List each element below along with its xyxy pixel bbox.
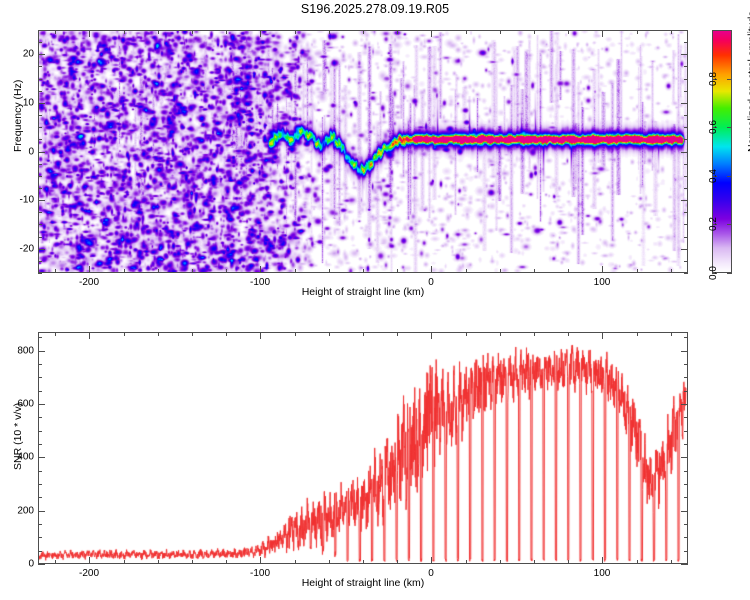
y-minor-tick <box>38 188 42 189</box>
y-minor-tick-right <box>684 79 688 80</box>
x-tick-label: -100 <box>250 277 270 288</box>
x-minor-tick-top <box>295 332 296 336</box>
snr-x-axis-title: Height of straight line (km) <box>302 577 425 589</box>
x-major-tick <box>89 266 90 273</box>
x-tick-label: -200 <box>79 568 99 579</box>
x-minor-tick <box>363 269 364 273</box>
x-minor-tick <box>329 560 330 564</box>
y-major-tick <box>38 351 45 352</box>
x-minor-tick-top <box>226 30 227 34</box>
x-tick-label: -100 <box>250 568 270 579</box>
x-minor-tick <box>671 269 672 273</box>
x-minor-tick <box>637 560 638 564</box>
y-major-tick-right <box>681 54 688 55</box>
y-minor-tick <box>38 224 42 225</box>
x-minor-tick-top <box>192 30 193 34</box>
y-minor-tick-right <box>684 273 688 274</box>
x-minor-tick-top <box>158 30 159 34</box>
y-major-tick-right <box>681 404 688 405</box>
y-minor-tick <box>38 261 42 262</box>
x-major-tick-top <box>89 30 90 37</box>
x-major-tick-top <box>431 332 432 339</box>
x-minor-tick <box>568 560 569 564</box>
y-minor-tick <box>38 377 42 378</box>
x-minor-tick <box>226 560 227 564</box>
x-minor-tick <box>363 560 364 564</box>
x-major-tick <box>89 557 90 564</box>
colorbar-tick-label: 0.8 <box>708 72 719 86</box>
x-minor-tick-top <box>124 30 125 34</box>
y-minor-tick-right <box>684 417 688 418</box>
x-minor-tick <box>192 269 193 273</box>
x-minor-tick <box>192 560 193 564</box>
y-major-tick-right <box>681 457 688 458</box>
y-major-tick <box>38 152 45 153</box>
x-minor-tick-top <box>500 30 501 34</box>
x-minor-tick <box>466 560 467 564</box>
y-major-tick <box>38 457 45 458</box>
x-minor-tick-top <box>534 30 535 34</box>
x-major-tick <box>260 557 261 564</box>
y-minor-tick-right <box>684 537 688 538</box>
y-minor-tick <box>38 551 42 552</box>
x-minor-tick <box>55 269 56 273</box>
x-tick-label: 0 <box>428 277 434 288</box>
y-minor-tick-right <box>684 212 688 213</box>
y-minor-tick-right <box>684 551 688 552</box>
y-minor-tick <box>38 391 42 392</box>
x-minor-tick <box>534 269 535 273</box>
x-minor-tick <box>329 269 330 273</box>
x-tick-label: 0 <box>428 568 434 579</box>
x-minor-tick-top <box>500 332 501 336</box>
snr-y-axis-title: SNR (10 * v/v) <box>12 403 24 470</box>
colorbar-tick-label: 0.2 <box>708 217 719 231</box>
y-minor-tick-right <box>684 431 688 432</box>
y-minor-tick-right <box>684 127 688 128</box>
x-minor-tick <box>671 560 672 564</box>
x-major-tick <box>431 557 432 564</box>
colorbar-tick-label: 0.0 <box>708 266 719 280</box>
x-minor-tick <box>295 560 296 564</box>
x-minor-tick-top <box>295 30 296 34</box>
x-minor-tick-top <box>124 332 125 336</box>
y-major-tick-right <box>681 152 688 153</box>
x-minor-tick-top <box>671 30 672 34</box>
colorbar-gradient <box>713 31 731 272</box>
y-minor-tick <box>38 42 42 43</box>
y-minor-tick <box>38 79 42 80</box>
y-minor-tick-right <box>684 377 688 378</box>
snr-plot-area <box>38 332 688 564</box>
y-minor-tick-right <box>684 497 688 498</box>
x-minor-tick-top <box>363 332 364 336</box>
y-tick-label: -10 <box>6 195 34 206</box>
page-title: S196.2025.278.09.19.R05 <box>0 2 750 16</box>
y-tick-label: 0 <box>6 559 34 570</box>
y-major-tick <box>38 404 45 405</box>
y-minor-tick <box>38 30 42 31</box>
x-tick-label: -200 <box>79 277 99 288</box>
y-minor-tick <box>38 484 42 485</box>
x-minor-tick-top <box>158 332 159 336</box>
y-major-tick <box>38 511 45 512</box>
x-minor-tick-top <box>637 332 638 336</box>
colorbar-tick-label: 0.6 <box>708 120 719 134</box>
x-major-tick-top <box>260 30 261 37</box>
y-minor-tick <box>38 524 42 525</box>
x-minor-tick <box>534 560 535 564</box>
x-major-tick <box>602 557 603 564</box>
x-minor-tick-top <box>568 30 569 34</box>
x-major-tick-top <box>89 332 90 339</box>
y-major-tick-right <box>681 103 688 104</box>
spectrogram-plot-area <box>38 30 688 273</box>
y-minor-tick-right <box>684 237 688 238</box>
y-major-tick-right <box>681 564 688 565</box>
x-minor-tick <box>226 269 227 273</box>
y-minor-tick-right <box>684 524 688 525</box>
y-tick-label: 800 <box>6 346 34 357</box>
y-minor-tick-right <box>684 391 688 392</box>
x-minor-tick <box>397 269 398 273</box>
x-major-tick-top <box>260 332 261 339</box>
y-minor-tick-right <box>684 115 688 116</box>
y-minor-tick <box>38 66 42 67</box>
y-major-tick-right <box>681 249 688 250</box>
colorbar-tick <box>727 127 732 128</box>
y-minor-tick <box>38 139 42 140</box>
x-major-tick <box>431 266 432 273</box>
x-minor-tick <box>500 269 501 273</box>
y-minor-tick-right <box>684 30 688 31</box>
y-minor-tick-right <box>684 337 688 338</box>
y-minor-tick <box>38 237 42 238</box>
x-minor-tick <box>295 269 296 273</box>
y-minor-tick <box>38 364 42 365</box>
y-minor-tick <box>38 115 42 116</box>
colorbar-tick <box>727 79 732 80</box>
y-minor-tick <box>38 212 42 213</box>
spectrogram-x-axis-title: Height of straight line (km) <box>302 286 425 298</box>
y-minor-tick-right <box>684 224 688 225</box>
y-tick-label: 200 <box>6 506 34 517</box>
spectrogram-y-axis-title: Frequency (Hz) <box>12 80 24 152</box>
x-major-tick-top <box>602 332 603 339</box>
x-minor-tick-top <box>466 30 467 34</box>
y-major-tick <box>38 54 45 55</box>
y-minor-tick <box>38 471 42 472</box>
x-minor-tick-top <box>466 332 467 336</box>
y-minor-tick <box>38 497 42 498</box>
snr-line-series <box>39 333 687 563</box>
x-minor-tick-top <box>329 332 330 336</box>
colorbar-tick <box>727 176 732 177</box>
x-major-tick <box>260 266 261 273</box>
y-minor-tick-right <box>684 471 688 472</box>
y-tick-label: -20 <box>6 244 34 255</box>
x-major-tick <box>602 266 603 273</box>
y-minor-tick-right <box>684 176 688 177</box>
y-minor-tick <box>38 127 42 128</box>
y-major-tick <box>38 249 45 250</box>
colorbar-tick-label: 0.4 <box>708 169 719 183</box>
y-minor-tick-right <box>684 164 688 165</box>
x-major-tick-top <box>431 30 432 37</box>
y-minor-tick-right <box>684 188 688 189</box>
x-minor-tick <box>55 560 56 564</box>
x-major-tick-top <box>602 30 603 37</box>
x-tick-label: 100 <box>594 277 611 288</box>
y-minor-tick <box>38 431 42 432</box>
x-minor-tick-top <box>534 332 535 336</box>
y-minor-tick <box>38 273 42 274</box>
y-major-tick-right <box>681 200 688 201</box>
x-minor-tick-top <box>55 332 56 336</box>
x-minor-tick <box>568 269 569 273</box>
y-major-tick <box>38 200 45 201</box>
x-minor-tick <box>124 269 125 273</box>
colorbar-tick <box>727 273 732 274</box>
y-minor-tick-right <box>684 42 688 43</box>
y-minor-tick <box>38 417 42 418</box>
y-minor-tick <box>38 337 42 338</box>
y-major-tick <box>38 103 45 104</box>
x-minor-tick-top <box>671 332 672 336</box>
x-minor-tick <box>500 560 501 564</box>
y-major-tick <box>38 564 45 565</box>
x-minor-tick-top <box>397 30 398 34</box>
x-minor-tick-top <box>192 332 193 336</box>
spectrogram-image <box>39 31 687 272</box>
y-minor-tick-right <box>684 364 688 365</box>
x-minor-tick-top <box>397 332 398 336</box>
y-minor-tick <box>38 91 42 92</box>
x-minor-tick <box>158 269 159 273</box>
y-minor-tick-right <box>684 66 688 67</box>
x-minor-tick-top <box>363 30 364 34</box>
x-minor-tick-top <box>329 30 330 34</box>
x-minor-tick-top <box>55 30 56 34</box>
y-minor-tick <box>38 444 42 445</box>
y-major-tick-right <box>681 511 688 512</box>
y-minor-tick <box>38 164 42 165</box>
colorbar-tick <box>727 224 732 225</box>
x-minor-tick-top <box>637 30 638 34</box>
y-minor-tick-right <box>684 91 688 92</box>
x-minor-tick <box>158 560 159 564</box>
y-minor-tick-right <box>684 261 688 262</box>
y-minor-tick-right <box>684 484 688 485</box>
x-minor-tick <box>466 269 467 273</box>
y-minor-tick-right <box>684 444 688 445</box>
x-minor-tick <box>637 269 638 273</box>
y-minor-tick-right <box>684 139 688 140</box>
y-minor-tick <box>38 176 42 177</box>
x-tick-label: 100 <box>594 568 611 579</box>
colorbar-title: Normalized spectral amplitude <box>746 11 750 152</box>
y-minor-tick <box>38 537 42 538</box>
colorbar <box>712 30 732 273</box>
x-minor-tick-top <box>226 332 227 336</box>
x-minor-tick <box>124 560 125 564</box>
x-minor-tick-top <box>568 332 569 336</box>
figure-root: S196.2025.278.09.19.R05 -200-1000100 201… <box>0 0 750 600</box>
y-major-tick-right <box>681 351 688 352</box>
x-minor-tick <box>397 560 398 564</box>
y-tick-label: 20 <box>6 49 34 60</box>
